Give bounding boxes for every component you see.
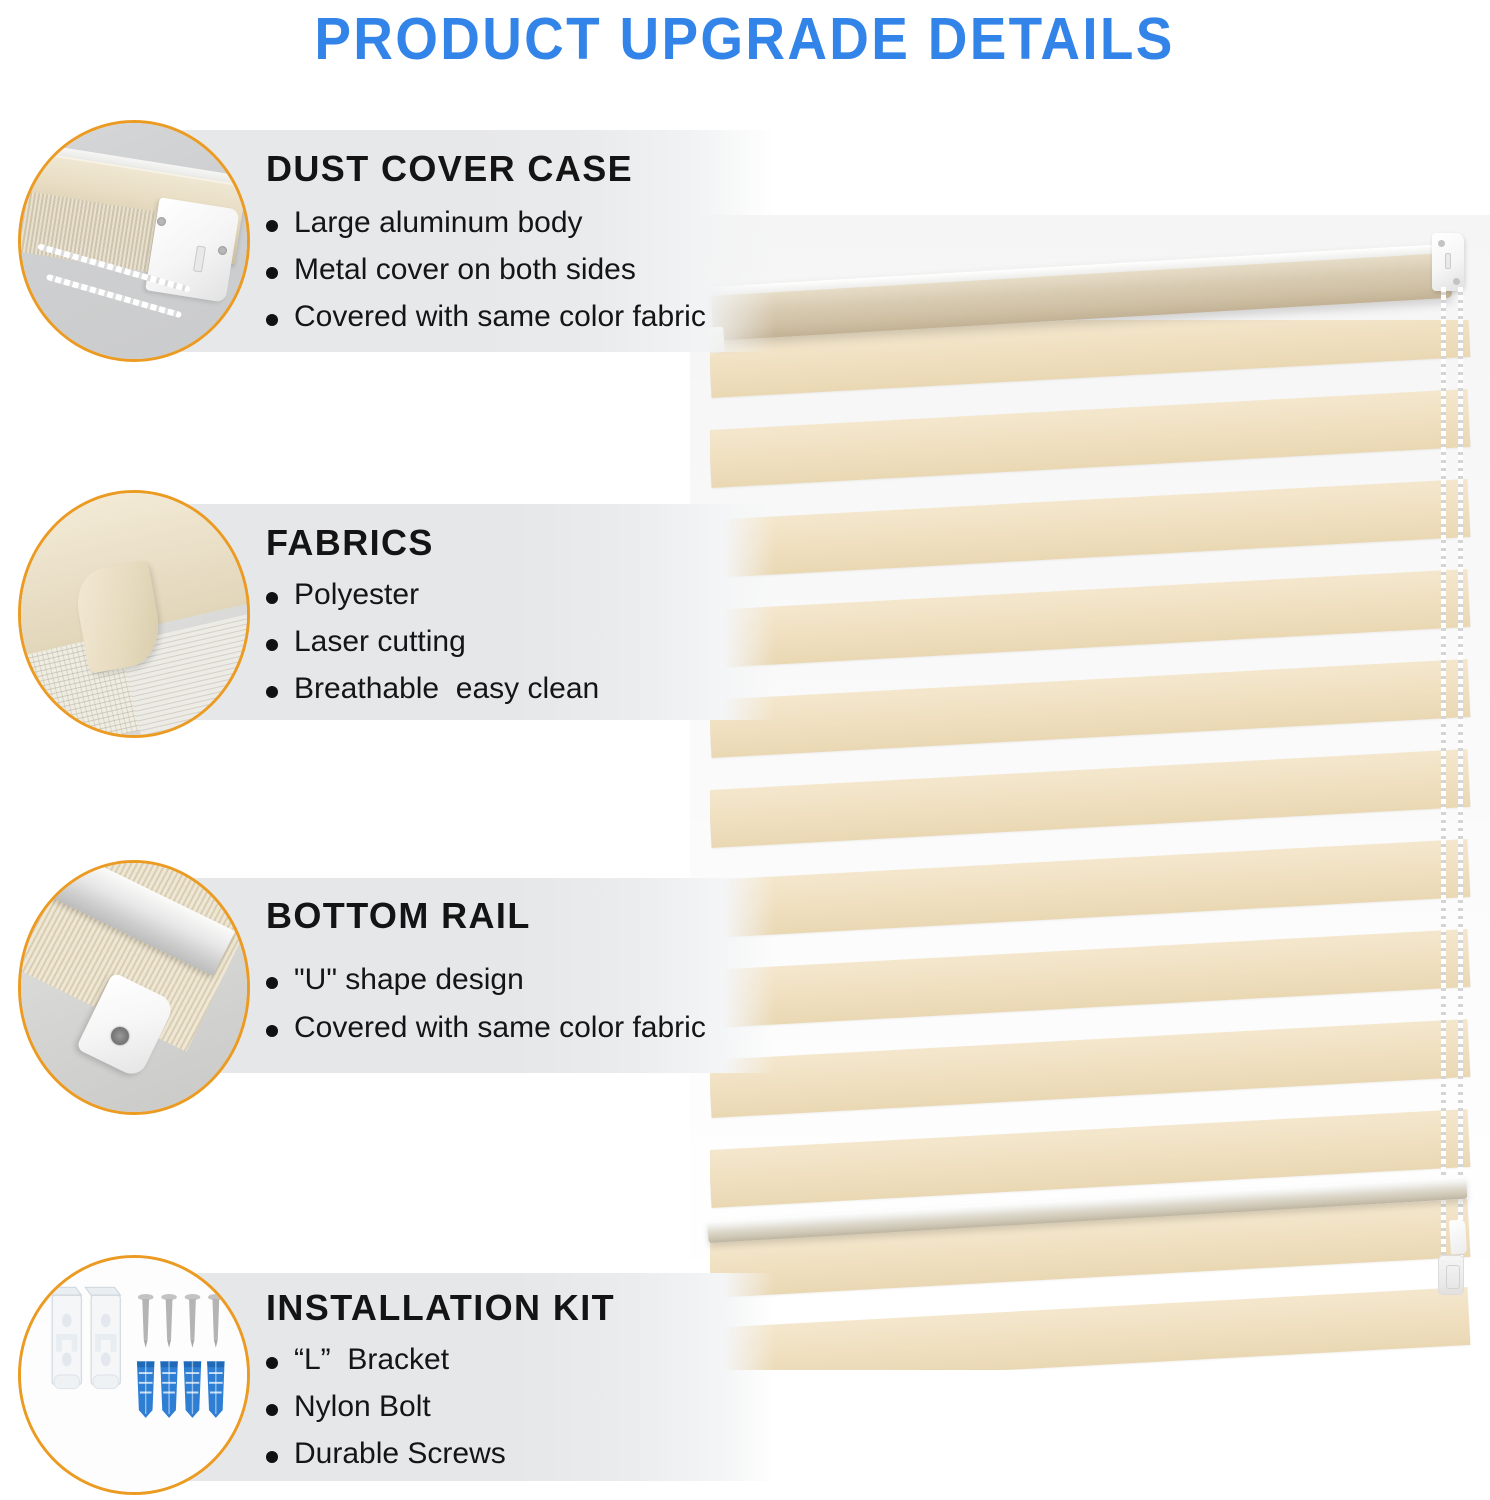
list-item: Large aluminum body <box>266 208 706 238</box>
headrail-cap-screw <box>1438 240 1445 247</box>
wall-anchor-icon <box>137 1361 155 1418</box>
fabric-stripe <box>710 659 1470 758</box>
bullet-icon <box>266 1451 278 1463</box>
list-item: Covered with same color fabric <box>266 302 706 332</box>
screw-icon <box>161 1294 177 1348</box>
feature-bottom-rail: BOTTOM RAIL "U" shape design Covered wit… <box>0 860 800 1120</box>
fabrics-photo <box>18 490 250 738</box>
fabric-stripe <box>710 749 1470 848</box>
headrail-cap-screw <box>1453 278 1460 285</box>
list-item: Covered with same color fabric <box>266 1013 706 1043</box>
feature-title: INSTALLATION KIT <box>266 1287 615 1329</box>
bullet-text: Durable Screws <box>294 1439 506 1469</box>
bullet-text: "U" shape design <box>294 965 524 995</box>
feature-fabrics: FABRICS Polyester Laser cutting Breathab… <box>0 490 800 740</box>
feature-bullet-list: “L” Bracket Nylon Bolt Durable Screws <box>266 1345 506 1469</box>
bullet-text: Laser cutting <box>294 627 466 657</box>
fabric-stripe <box>710 479 1470 578</box>
installation-kit-svg <box>21 1258 247 1492</box>
bullet-icon <box>266 1357 278 1369</box>
headrail-cap-slot <box>1445 253 1451 269</box>
bullet-text: Covered with same color fabric <box>294 1013 706 1043</box>
bullet-text: Nylon Bolt <box>294 1392 431 1422</box>
bullet-text: Polyester <box>294 580 419 610</box>
fabric-stripe <box>710 1287 1470 1370</box>
fabric-stripe <box>710 1019 1470 1118</box>
fabric-stripe <box>710 569 1470 668</box>
headrail-right-endcap <box>1432 233 1464 291</box>
feature-title: BOTTOM RAIL <box>266 895 531 937</box>
wall-anchor-icon <box>207 1361 225 1418</box>
feature-bullet-list: Polyester Laser cutting Breathable easy … <box>266 580 599 704</box>
dust-cover-case-photo <box>18 120 250 362</box>
bullet-icon <box>266 1025 278 1037</box>
installation-kit-photo <box>18 1255 250 1495</box>
feature-dust-cover-case: DUST COVER CASE Large aluminum body Meta… <box>0 120 800 365</box>
chain-connector[interactable] <box>1438 1255 1464 1295</box>
bullet-text: “L” Bracket <box>294 1345 449 1375</box>
bullet-icon <box>266 220 278 232</box>
feature-title: DUST COVER CASE <box>266 148 633 190</box>
zebra-roller-blind <box>690 215 1490 1315</box>
page-title: PRODUCT UPGRADE DETAILS <box>315 5 1175 73</box>
feature-installation-kit: INSTALLATION KIT “L” Bracket Nylon Bolt … <box>0 1255 800 1500</box>
control-chain[interactable] <box>1441 287 1446 1262</box>
bottom-rail-endcap <box>1449 1220 1467 1255</box>
fabric-stripe <box>710 929 1470 1028</box>
wall-anchor-icon <box>160 1361 178 1418</box>
bullet-icon <box>266 314 278 326</box>
list-item: Metal cover on both sides <box>266 255 706 285</box>
list-item: “L” Bracket <box>266 1345 506 1375</box>
bullet-text: Breathable easy clean <box>294 674 599 704</box>
bullet-icon <box>266 639 278 651</box>
list-item: Laser cutting <box>266 627 599 657</box>
bottom-rail-photo <box>18 860 250 1115</box>
bullet-icon <box>266 977 278 989</box>
page-title-bar: PRODUCT UPGRADE DETAILS <box>0 0 1490 78</box>
bullet-icon <box>266 686 278 698</box>
list-item: Polyester <box>266 580 599 610</box>
l-bracket-icon <box>46 1287 81 1388</box>
bullet-text: Metal cover on both sides <box>294 255 636 285</box>
control-chain[interactable] <box>1458 287 1463 1262</box>
list-item: Nylon Bolt <box>266 1392 506 1422</box>
screw-icon <box>185 1294 201 1348</box>
bullet-text: Covered with same color fabric <box>294 302 706 332</box>
l-bracket-icon <box>85 1287 120 1388</box>
screw-icon <box>138 1294 154 1348</box>
feature-bullet-list: "U" shape design Covered with same color… <box>266 965 706 1043</box>
screw-icon <box>208 1294 224 1348</box>
list-item: Durable Screws <box>266 1439 506 1469</box>
wall-anchor-icon <box>184 1361 202 1418</box>
list-item: Breathable easy clean <box>266 674 599 704</box>
list-item: "U" shape design <box>266 965 706 995</box>
fabric-stripe <box>710 839 1470 938</box>
feature-bullet-list: Large aluminum body Metal cover on both … <box>266 208 706 332</box>
bullet-text: Large aluminum body <box>294 208 583 238</box>
bullet-icon <box>266 1404 278 1416</box>
fabric-stripe <box>710 389 1470 488</box>
bullet-icon <box>266 267 278 279</box>
bullet-icon <box>266 592 278 604</box>
feature-title: FABRICS <box>266 522 434 564</box>
